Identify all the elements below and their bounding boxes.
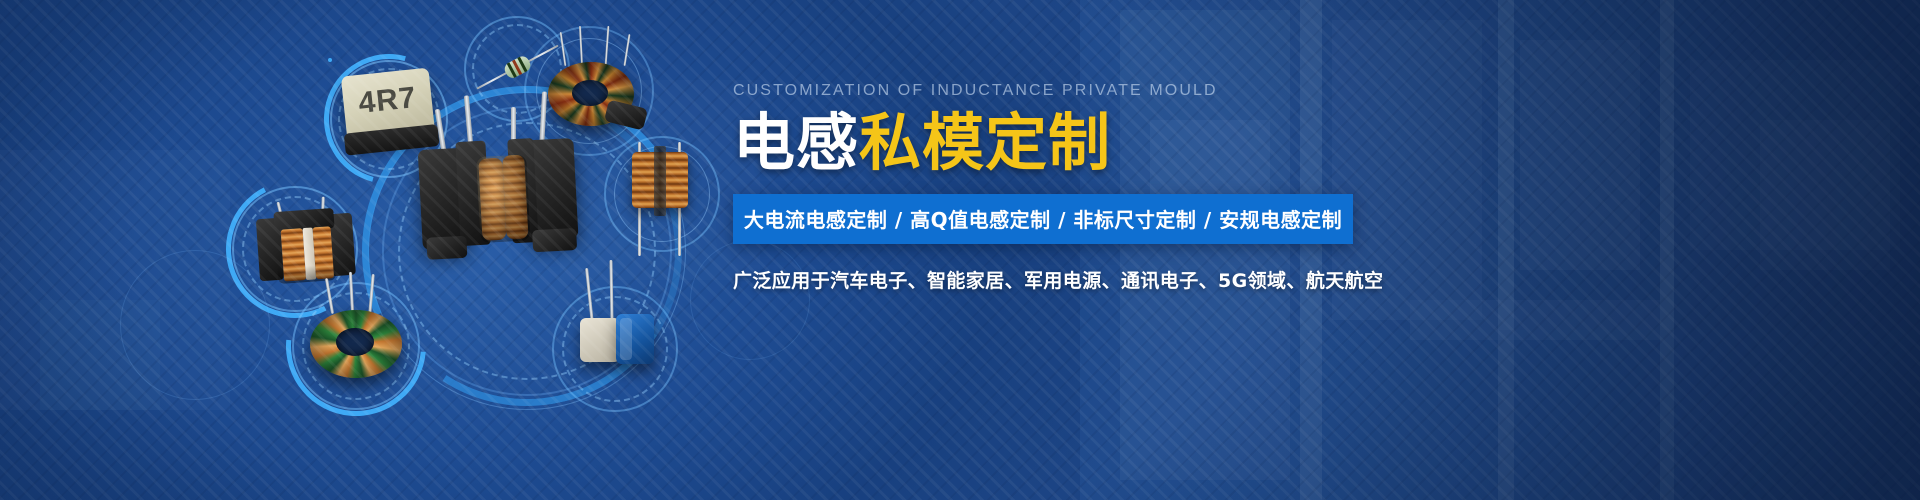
service-list-text: 大电流电感定制 / 高Q值电感定制 / 非标尺寸定制 / 安规电感定制 <box>744 204 1342 233</box>
eyebrow-english-subtitle: CUSTOMIZATION OF INDUCTANCE PRIVATE MOUL… <box>733 82 1373 100</box>
service-list-bar[interactable]: 大电流电感定制 / 高Q值电感定制 / 非标尺寸定制 / 安规电感定制 <box>733 194 1353 244</box>
headline-yellow-part: 私模定制 <box>859 106 1111 179</box>
page-title: 电感私模定制 <box>733 110 1373 177</box>
inductance-promo-banner: 4R7 <box>0 0 1920 500</box>
banner-copy-block: CUSTOMIZATION OF INDUCTANCE PRIVATE MOUL… <box>733 82 1373 293</box>
headline-white-part: 电感 <box>733 106 859 179</box>
application-fields-text: 广泛应用于汽车电子、智能家居、军用电源、通讯电子、5G领域、航天航空 <box>733 266 1373 293</box>
